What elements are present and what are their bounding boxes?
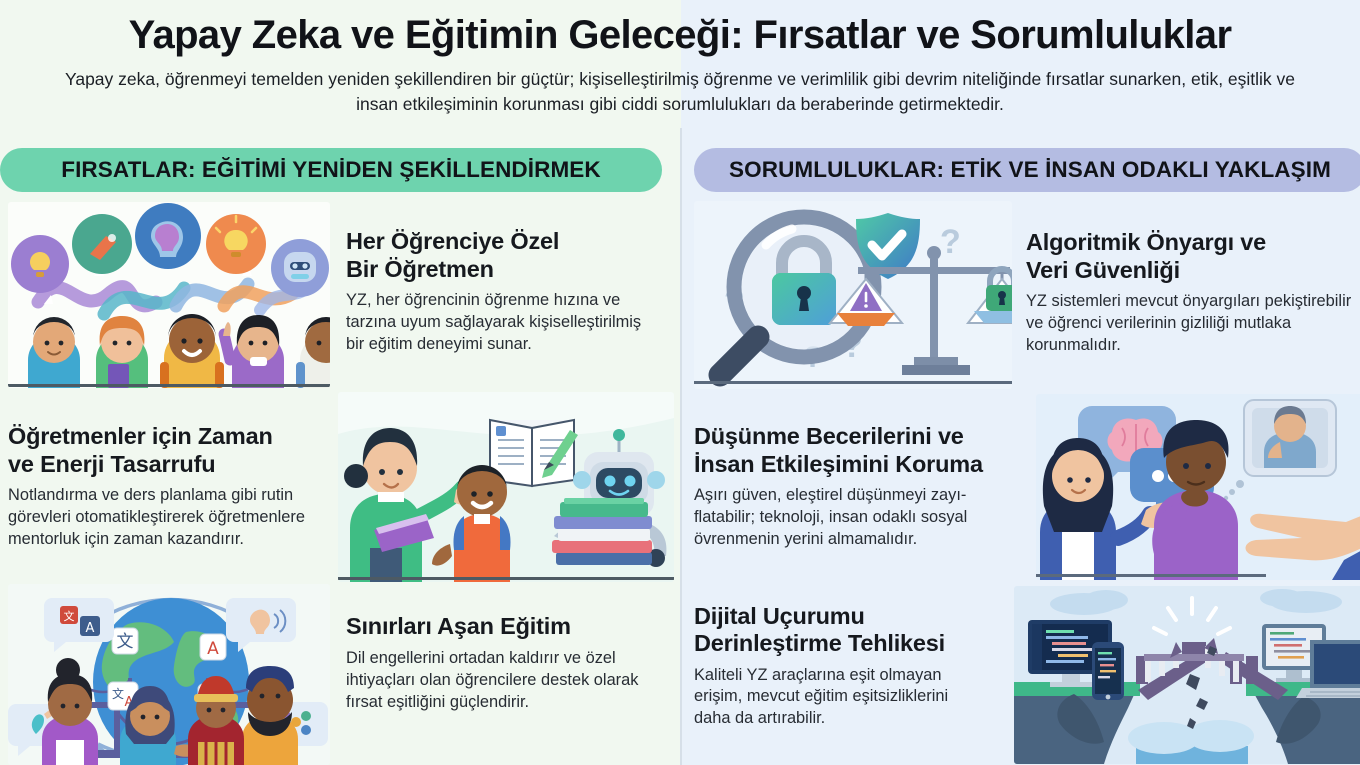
list-item: 文 A 文 A f 文 A <box>8 584 674 765</box>
item-body: YZ, her öğrencinin öğrenme hızına ve tar… <box>346 290 674 356</box>
svg-text:?: ? <box>940 223 961 261</box>
item-title: Öğretmenler için Zaman ve Enerji Tasarru… <box>8 423 326 478</box>
item-body: Dil engellerini ortadan kaldırır ve özel… <box>346 648 674 714</box>
broken-bridge-digital-divide-icon <box>1014 586 1360 764</box>
item-copy: Öğretmenler için Zaman ve Enerji Tasarru… <box>8 423 338 551</box>
svg-text:文: 文 <box>117 632 134 652</box>
item-copy: Dijital Uçurumu Derinleştirme Tehlikesi … <box>694 603 1014 747</box>
list-item: ? ? ? ? <box>694 200 1360 390</box>
people-conversation-brain-bubble-icon <box>1036 394 1360 580</box>
svg-text:A: A <box>86 621 95 636</box>
item-copy: Sınırları Aşan Eğitim Dil engellerini or… <box>330 613 674 735</box>
section-header-opportunities-label: FIRSATLAR: EĞİTİMİ YENİDEN ŞEKİLLENDİRME… <box>61 157 601 183</box>
item-title: Her Öğrenciye Özel Bir Öğretmen <box>346 228 674 283</box>
poster-header: Yapay Zeka ve Eğitimin Geleceği: Fırsatl… <box>0 0 1360 128</box>
item-copy: Algoritmik Önyargı ve Veri Güvenliği YZ … <box>1012 229 1360 361</box>
item-body: YZ sistemleri mevcut önyargıları pekişti… <box>1026 291 1360 357</box>
list-item: Dijital Uçurumu Derinleştirme Tehlikesi … <box>694 584 1360 765</box>
students-with-idea-bubbles-icon <box>8 202 330 388</box>
item-body: Kaliteli YZ araçlarına eşit olmayan eriş… <box>694 665 1006 731</box>
list-item: Her Öğrenciye Özel Bir Öğretmen YZ, her … <box>8 200 674 390</box>
item-copy: Düşünme Becerilerini ve İnsan Etkileşimi… <box>694 423 1036 551</box>
svg-text:A: A <box>207 639 219 659</box>
item-title: Sınırları Aşan Eğitim <box>346 613 674 640</box>
item-title: Düşünme Becerilerini ve İnsan Etkileşimi… <box>694 423 1028 478</box>
globe-bridges-translation-icon: 文 A 文 A f 文 A <box>8 584 330 765</box>
item-title: Dijital Uçurumu Derinleştirme Tehlikesi <box>694 603 1006 658</box>
column-divider <box>680 128 682 765</box>
svg-text:文: 文 <box>112 686 124 701</box>
item-copy: Her Öğrenciye Özel Bir Öğretmen YZ, her … <box>330 228 674 362</box>
page-title: Yapay Zeka ve Eğitimin Geleceği: Fırsatl… <box>0 14 1360 57</box>
item-body: Aşırı güven, eleştirel düşünmeyi zayı- f… <box>694 485 1028 551</box>
section-header-opportunities: FIRSATLAR: EĞİTİMİ YENİDEN ŞEKİLLENDİRME… <box>0 148 662 192</box>
magnifier-lock-shield-scales-icon: ? ? ? ? <box>694 201 1012 389</box>
svg-text:文: 文 <box>64 609 75 623</box>
teacher-student-robot-books-icon <box>338 392 674 582</box>
list-item: Öğretmenler için Zaman ve Enerji Tasarru… <box>8 392 674 582</box>
list-item: Düşünme Becerilerini ve İnsan Etkileşimi… <box>694 392 1360 582</box>
section-header-responsibilities-label: SORUMLULUKLAR: ETİK VE İNSAN ODAKLI YAKL… <box>729 157 1331 183</box>
page-subtitle: Yapay zeka, öğrenmeyi temelden yeniden ş… <box>55 67 1305 117</box>
infographic-poster: Yapay Zeka ve Eğitimin Geleceği: Fırsatl… <box>0 0 1360 765</box>
section-header-responsibilities: SORUMLULUKLAR: ETİK VE İNSAN ODAKLI YAKL… <box>694 148 1360 192</box>
item-body: Notlandırma ve ders planlama gibi rutin … <box>8 485 326 551</box>
item-title: Algoritmik Önyargı ve Veri Güvenliği <box>1026 229 1360 284</box>
